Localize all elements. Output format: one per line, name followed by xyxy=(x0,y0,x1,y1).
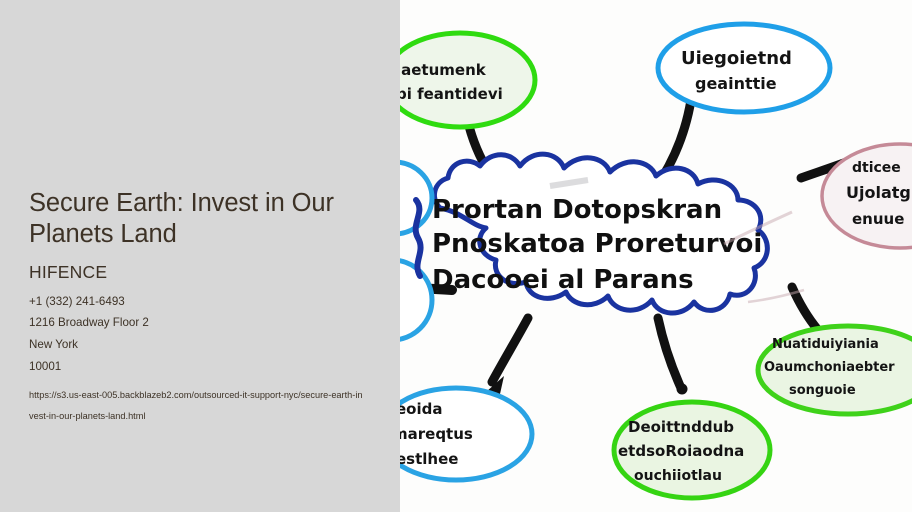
page-url-link[interactable]: https://s3.us-east-005.backblazeb2.com/o… xyxy=(29,385,365,426)
node-top-left-green[interactable]: laetumenk bi feantidevi xyxy=(400,33,535,127)
cloud-text-line-2: Pnoskatoa Proreturvoi xyxy=(432,229,762,259)
node-right-green-line-1: Nuatiduiyiania xyxy=(772,337,879,352)
connector-to-bottom-green xyxy=(658,318,681,388)
node-top-left-green-shape xyxy=(400,33,535,127)
node-bottom-left-blue-line-1: eoida xyxy=(400,400,442,418)
brand-name: HIFENCE xyxy=(29,262,374,283)
page-root: Secure Earth: Invest in Our Planets Land… xyxy=(0,0,912,512)
node-bottom-green-line-2: etdsoRoiaodna xyxy=(618,442,744,460)
node-top-left-green-line-1: laetumenk xyxy=(400,61,487,79)
node-top-right-blue-line-1: Uiegoietnd xyxy=(681,48,792,69)
node-right-pink-line-3: enuue xyxy=(852,210,904,228)
node-top-left-green-line-2: bi feantidevi xyxy=(400,85,503,103)
node-right-green-line-2: Oaumchoniaebter xyxy=(764,360,895,375)
info-panel: Secure Earth: Invest in Our Planets Land… xyxy=(0,0,400,512)
node-right-green-line-3: songuoie xyxy=(789,383,856,398)
node-bottom-left-blue-line-2: mareqtus xyxy=(400,425,473,443)
address-city: New York xyxy=(29,334,374,356)
cloud-text-line-1: Prortan Dotopskran xyxy=(432,195,722,225)
node-bottom-left-blue-line-3: estlhee xyxy=(400,450,458,468)
node-right-pink-line-2: Ujolatgiiei xyxy=(846,183,912,202)
node-top-right-blue-line-2: geainttie xyxy=(695,74,777,93)
page-title: Secure Earth: Invest in Our Planets Land xyxy=(29,188,369,250)
node-top-right-blue[interactable]: Uiegoietnd geainttie xyxy=(658,24,830,112)
node-bottom-green-line-1: Deoittnddub xyxy=(628,418,734,436)
phone-number[interactable]: +1 (332) 241-6493 xyxy=(29,291,374,313)
squiggle-accent xyxy=(416,200,421,276)
connector-to-bottom-left-blue xyxy=(492,318,528,382)
node-right-pink[interactable]: dticee Ujolatgiiei enuue xyxy=(822,144,912,248)
node-bottom-left-blue[interactable]: eoida mareqtus estlhee xyxy=(400,388,532,480)
mindmap-illustration: Prortan Dotopskran Pnoskatoa Proreturvoi… xyxy=(400,0,912,512)
info-content: Secure Earth: Invest in Our Planets Land… xyxy=(29,188,374,426)
node-bottom-green-line-3: ouchiiotlau xyxy=(634,468,722,484)
address-street: 1216 Broadway Floor 2 xyxy=(29,312,374,334)
node-right-green[interactable]: Nuatiduiyiania Oaumchoniaebter songuoie xyxy=(758,326,912,414)
node-bottom-green[interactable]: Deoittnddub etdsoRoiaodna ouchiiotlau xyxy=(614,402,770,498)
node-right-pink-line-1: dticee xyxy=(852,160,901,176)
center-cloud-node[interactable]: Prortan Dotopskran Pnoskatoa Proreturvoi… xyxy=(432,154,767,313)
address-zip: 10001 xyxy=(29,356,374,378)
cloud-text-line-3: Dacooei al Parans xyxy=(432,265,694,295)
